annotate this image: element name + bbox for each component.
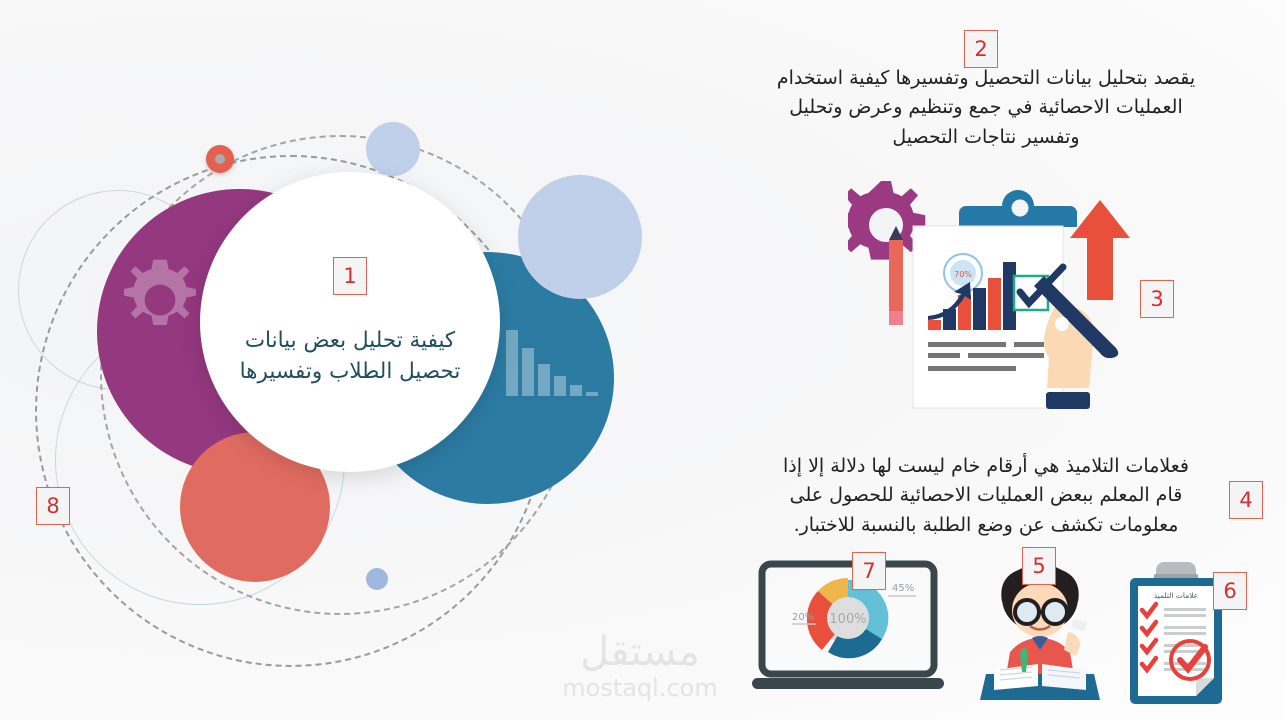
circle-light-blue-small bbox=[366, 568, 388, 590]
clipboard-chart-illustration: 70% bbox=[848, 168, 1138, 423]
paragraph-marks: فعلامات التلاميذ هي أرقام خام ليست لها د… bbox=[716, 452, 1256, 540]
badge-1[interactable]: 1 bbox=[333, 257, 367, 295]
donut-label-20: 20% bbox=[792, 612, 814, 623]
decorative-bar-chart-teal bbox=[506, 328, 598, 396]
badge-7[interactable]: 7 bbox=[852, 552, 886, 590]
svg-text:70%: 70% bbox=[954, 270, 972, 279]
watermark: مستقل mostaql.com bbox=[540, 632, 740, 703]
orbit-marker-dot bbox=[206, 145, 234, 173]
badge-8[interactable]: 8 bbox=[36, 487, 70, 525]
circle-light-blue-large bbox=[518, 175, 642, 299]
clipboard-clip-icon bbox=[959, 190, 1077, 227]
badge-3[interactable]: 3 bbox=[1140, 280, 1174, 318]
watermark-latin: mostaql.com bbox=[540, 674, 740, 703]
page-title: كيفية تحليل بعض بيانات تحصيل الطلاب وتفس… bbox=[210, 325, 490, 387]
svg-text:100%: 100% bbox=[829, 612, 866, 627]
donut-label-45: 45% bbox=[892, 583, 914, 594]
donut-chart: 100% bbox=[807, 578, 889, 658]
badge-5[interactable]: 5 bbox=[1022, 547, 1056, 585]
infographic-slide: 1 كيفية تحليل بعض بيانات تحصيل الطلاب وت… bbox=[0, 0, 1286, 720]
pencil-icon bbox=[889, 226, 903, 325]
badge-6[interactable]: 6 bbox=[1213, 572, 1247, 610]
up-arrow-icon bbox=[1070, 200, 1130, 300]
title-block: 1 كيفية تحليل بعض بيانات تحصيل الطلاب وت… bbox=[200, 172, 500, 472]
paragraph-intro: يقصد بتحليل بيانات التحصيل وتفسيرها كيفي… bbox=[716, 64, 1256, 152]
badge-2[interactable]: 2 bbox=[964, 30, 998, 68]
marksheet-heading: علامات التلميذ bbox=[1144, 591, 1208, 600]
gear-icon bbox=[112, 252, 208, 348]
circle-light-blue-top bbox=[366, 122, 420, 176]
badge-4[interactable]: 4 bbox=[1229, 481, 1263, 519]
watermark-arabic: مستقل bbox=[540, 632, 740, 672]
